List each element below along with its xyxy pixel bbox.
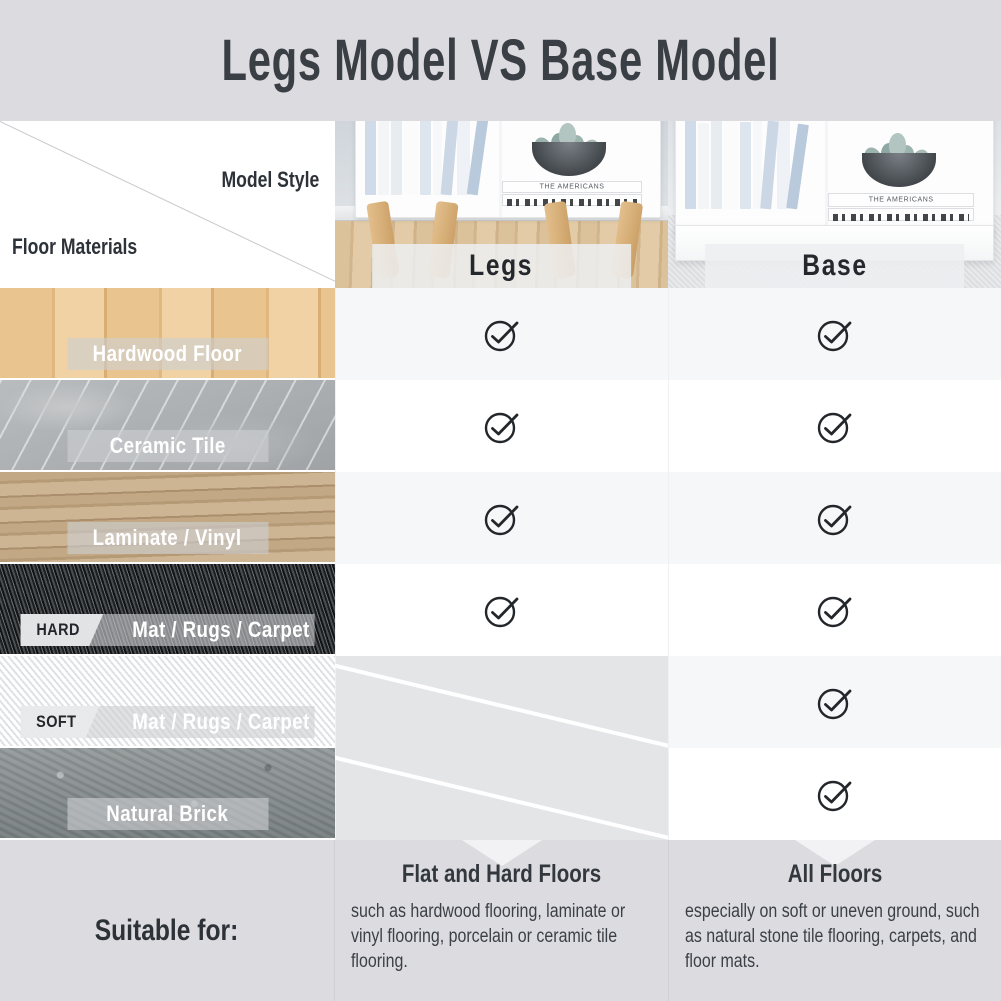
material-label: SOFTMat / Rugs / Carpet bbox=[20, 706, 315, 738]
page-title-bar: Legs Model VS Base Model bbox=[0, 0, 1001, 121]
material-label-text: Natural Brick bbox=[107, 801, 229, 827]
column-header-base: THE AMERICANS Base bbox=[668, 121, 1001, 288]
check-circle-icon bbox=[813, 404, 857, 448]
photo-cabinet: THE AMERICANS bbox=[675, 121, 995, 235]
cell-base-supported bbox=[668, 380, 1001, 472]
footer-suitable-for: Suitable for: Flat and Hard Floors such … bbox=[0, 840, 1001, 1001]
cell-base-supported bbox=[668, 288, 1001, 380]
footer-legs-body: such as hardwood flooring, laminate or v… bbox=[351, 899, 652, 974]
check-circle-icon bbox=[813, 772, 857, 816]
comparison-table: Model Style Floor Materials bbox=[0, 121, 1001, 840]
material-label: HARDMat / Rugs / Carpet bbox=[20, 614, 315, 646]
photo-books bbox=[685, 121, 818, 209]
corner-label-floor-materials: Floor Materials bbox=[12, 234, 137, 260]
cell-separator bbox=[668, 564, 669, 656]
cell-base-supported bbox=[668, 656, 1001, 748]
cell-base-supported bbox=[668, 564, 1001, 656]
photo-bowl bbox=[532, 142, 606, 176]
photo-cabinet: THE AMERICANS bbox=[355, 121, 661, 218]
check-circle-icon bbox=[813, 312, 857, 356]
check-circle-icon bbox=[480, 588, 524, 632]
material-cell: Natural Brick bbox=[0, 748, 335, 840]
check-circle-icon bbox=[813, 496, 857, 540]
material-cell: HARDMat / Rugs / Carpet bbox=[0, 564, 335, 656]
cell-base-supported bbox=[668, 748, 1001, 840]
hardness-badge: SOFT bbox=[20, 706, 99, 738]
book bbox=[685, 121, 696, 209]
cell-separator bbox=[668, 380, 669, 472]
cell-separator bbox=[335, 380, 336, 472]
material-label-text: Mat / Rugs / Carpet bbox=[132, 709, 309, 735]
material-label-text: Mat / Rugs / Carpet bbox=[132, 617, 309, 643]
photo-bowl bbox=[862, 153, 936, 187]
material-label: Hardwood Floor bbox=[67, 338, 268, 370]
check-circle-icon bbox=[480, 312, 524, 356]
photo-book-stack: THE AMERICANS bbox=[828, 185, 974, 221]
material-cell: SOFTMat / Rugs / Carpet bbox=[0, 656, 335, 748]
page-title: Legs Model VS Base Model bbox=[222, 27, 780, 94]
stacked-book-upper: THE AMERICANS bbox=[828, 193, 974, 207]
book bbox=[420, 121, 431, 195]
cell-legs-supported bbox=[335, 564, 668, 656]
cell-separator bbox=[335, 564, 336, 656]
photo-books bbox=[365, 121, 493, 195]
column-label-base-text: Base bbox=[802, 249, 867, 283]
book bbox=[365, 121, 376, 195]
book bbox=[724, 121, 738, 209]
cell-separator bbox=[668, 472, 669, 564]
book bbox=[378, 121, 389, 195]
cell-separator bbox=[335, 656, 336, 748]
material-label-text: Laminate / Vinyl bbox=[93, 525, 242, 551]
material-cell: Hardwood Floor bbox=[0, 288, 335, 380]
strikethrough-line bbox=[335, 754, 668, 840]
check-circle-icon bbox=[480, 404, 524, 448]
book-cover-pattern bbox=[833, 214, 969, 221]
cell-legs-unsupported bbox=[335, 748, 668, 840]
column-header-legs: THE AMERICANS Legs bbox=[335, 121, 668, 288]
strikethrough-line bbox=[335, 662, 668, 748]
material-cell: Laminate / Vinyl bbox=[0, 472, 335, 564]
book-cover-pattern bbox=[507, 199, 637, 206]
table-row: Laminate / Vinyl bbox=[0, 472, 1001, 564]
book bbox=[467, 121, 488, 196]
comparison-infographic: Legs Model VS Base Model Model Style Flo… bbox=[0, 0, 1001, 1001]
stacked-book-upper: THE AMERICANS bbox=[502, 181, 642, 193]
cell-legs-supported bbox=[335, 380, 668, 472]
material-cell: Ceramic Tile bbox=[0, 380, 335, 472]
check-circle-icon bbox=[813, 588, 857, 632]
table-header-row: Model Style Floor Materials bbox=[0, 121, 1001, 288]
cell-legs-unsupported bbox=[335, 656, 668, 748]
footer-legs-cell: Flat and Hard Floors such as hardwood fl… bbox=[335, 840, 668, 1001]
column-label-legs-text: Legs bbox=[469, 249, 533, 283]
material-label-text: Ceramic Tile bbox=[109, 433, 225, 459]
footer-base-heading: All Floors bbox=[712, 860, 958, 889]
cell-legs-supported bbox=[335, 472, 668, 564]
cell-separator bbox=[668, 656, 669, 748]
hardness-badge-text: SOFT bbox=[36, 712, 76, 732]
hardness-badge-text: HARD bbox=[36, 620, 79, 640]
stacked-book-lower bbox=[828, 208, 974, 222]
column-label-legs: Legs bbox=[372, 244, 632, 288]
cell-separator bbox=[335, 472, 336, 564]
suitable-for-label: Suitable for: bbox=[95, 914, 239, 948]
table-row: SOFTMat / Rugs / Carpet bbox=[0, 656, 1001, 748]
book-title-text: THE AMERICANS bbox=[829, 196, 973, 203]
footer-label-cell: Suitable for: bbox=[0, 840, 335, 1001]
book bbox=[404, 121, 418, 195]
cell-separator bbox=[335, 748, 336, 840]
cell-legs-supported bbox=[335, 288, 668, 380]
material-label-text: Hardwood Floor bbox=[93, 341, 242, 367]
footer-base-cell: All Floors especially on soft or uneven … bbox=[668, 840, 1001, 1001]
check-circle-icon bbox=[480, 496, 524, 540]
book bbox=[391, 121, 402, 195]
footer-base-body: especially on soft or uneven ground, suc… bbox=[685, 899, 985, 974]
cell-separator bbox=[335, 288, 336, 380]
book bbox=[711, 121, 722, 209]
column-label-base: Base bbox=[705, 244, 965, 288]
material-label: Ceramic Tile bbox=[67, 430, 268, 462]
book bbox=[441, 121, 459, 196]
book bbox=[698, 123, 709, 209]
table-row: Hardwood Floor bbox=[0, 288, 1001, 380]
table-row: Natural Brick bbox=[0, 748, 1001, 840]
corner-split-cell: Model Style Floor Materials bbox=[0, 121, 335, 288]
material-label: Natural Brick bbox=[67, 798, 268, 830]
check-circle-icon bbox=[813, 680, 857, 724]
cell-separator bbox=[668, 288, 669, 380]
book-title-text: THE AMERICANS bbox=[503, 183, 641, 190]
table-row: Ceramic Tile bbox=[0, 380, 1001, 472]
material-label: Laminate / Vinyl bbox=[67, 522, 268, 554]
footer-legs-heading: Flat and Hard Floors bbox=[378, 860, 625, 889]
table-row: HARDMat / Rugs / Carpet bbox=[0, 564, 1001, 656]
hardness-badge: HARD bbox=[20, 614, 103, 646]
cell-base-supported bbox=[668, 472, 1001, 564]
photo-book-stack: THE AMERICANS bbox=[502, 174, 642, 206]
cell-separator bbox=[668, 748, 669, 840]
book bbox=[740, 122, 751, 209]
corner-label-model-style: Model Style bbox=[221, 167, 319, 193]
